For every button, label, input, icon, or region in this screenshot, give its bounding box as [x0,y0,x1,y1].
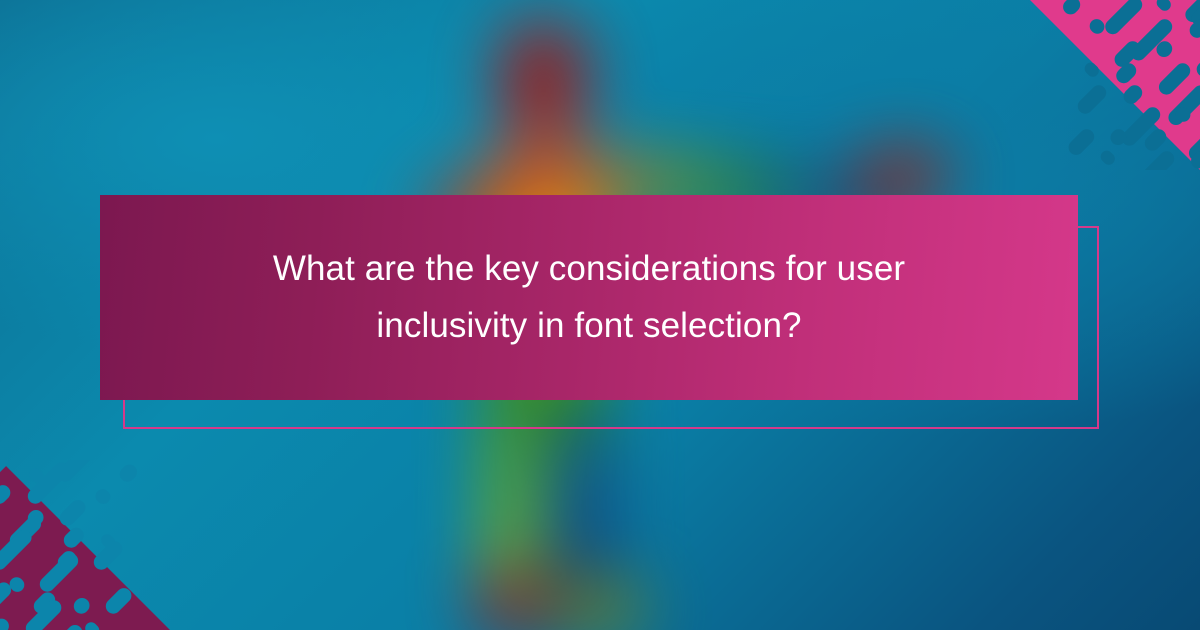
figure-right-foot [552,584,648,630]
figure-left-foot [470,578,560,630]
figure-right-leg [556,400,610,615]
quote-text: What are the key considerations for user… [219,241,959,354]
quote-card: What are the key considerations for user… [100,195,1078,400]
quote-card-graphic: What are the key considerations for user… [0,0,1200,630]
